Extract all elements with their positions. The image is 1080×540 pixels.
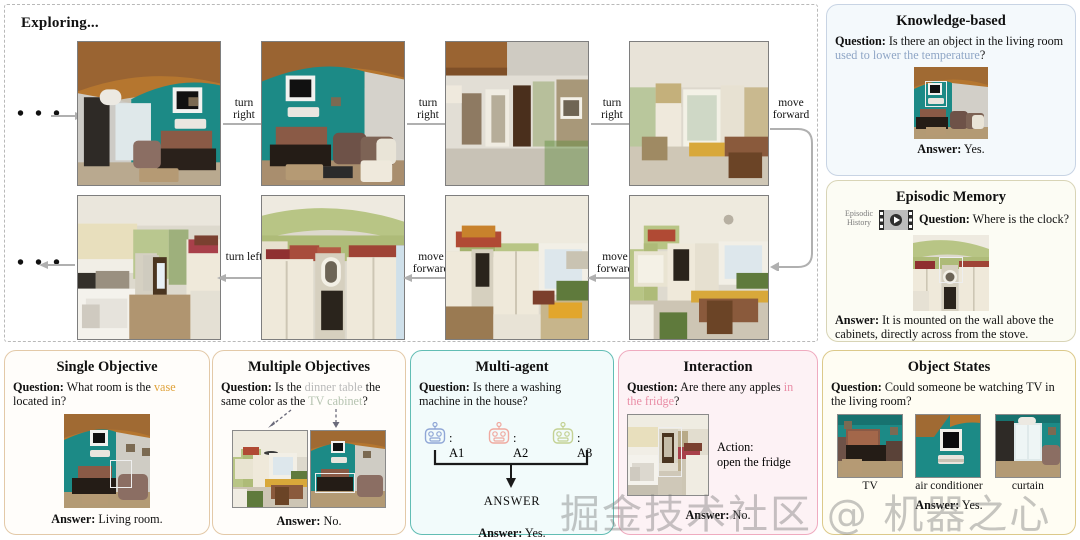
answer-label: Answer:	[51, 512, 95, 526]
question-highlight: vase	[154, 380, 176, 394]
arrow-top-2	[407, 123, 449, 125]
highlight-box	[110, 460, 132, 488]
explore-frame-bottom-4	[629, 195, 769, 340]
question-highlight-1: dinner table	[305, 380, 363, 394]
explore-frame-top-1	[77, 41, 221, 186]
question-label: Question:	[831, 380, 882, 394]
explore-frame-top-3	[445, 41, 589, 186]
question-label: Question:	[419, 380, 470, 394]
arrow-bottom-3	[595, 277, 629, 279]
episodic-history-label-line1: Episodic	[845, 209, 873, 218]
ellipsis-top-left: • • •	[17, 109, 63, 119]
objstate-item-ac: air conditioner	[915, 414, 982, 492]
answer-text: Yes.	[522, 526, 545, 540]
interaction-question: Question: Are there any apples in the fr…	[627, 380, 809, 408]
arrow-top-3	[591, 123, 633, 125]
page-title: Exploring...	[21, 15, 99, 32]
episodic-history-label: Episodic History	[839, 209, 879, 227]
explore-frame-bottom-2	[261, 195, 405, 340]
pointer-arrow-left	[265, 408, 295, 430]
knowledge-answer: Answer: Yes.	[835, 142, 1067, 156]
step-label-top-4: move forward	[767, 97, 815, 121]
action-line-1: Action:	[717, 440, 809, 455]
explore-frame-top-2	[261, 41, 405, 186]
multiagent-title: Multi-agent	[419, 359, 605, 376]
question-text-part1: Is the	[272, 380, 305, 394]
answer-label: Answer:	[478, 526, 522, 540]
question-highlight-2: TV cabinet	[308, 394, 362, 408]
multi-agent-card: Multi-agent Question: Is there a washing…	[410, 350, 614, 535]
question-text-part1: Is there an object in the living room	[886, 34, 1063, 48]
multiple-thumbnail-dinner-table	[232, 430, 308, 508]
answer-label: Answer:	[915, 498, 959, 512]
arrow-top-1	[223, 123, 265, 125]
step-label-top-2: turn right	[407, 97, 449, 121]
agent-a3: : A3	[551, 422, 575, 451]
answer-text: No.	[321, 514, 342, 528]
interaction-title: Interaction	[627, 359, 809, 376]
objstate-item-tv: TV	[837, 414, 903, 492]
multiple-answer: Answer: No.	[221, 514, 397, 528]
highlight-box	[925, 81, 947, 107]
objstate-item-curtain: curtain	[995, 414, 1061, 492]
question-text-part2: ?	[980, 48, 985, 62]
arrow-bottom-1	[225, 277, 263, 279]
answer-text: Yes.	[959, 498, 982, 512]
episodic-title: Episodic Memory	[835, 189, 1067, 206]
agent-a1: : A1	[423, 422, 447, 451]
highlight-box	[658, 427, 682, 477]
objstate-caption-tv: TV	[837, 480, 903, 492]
question-label: Question:	[627, 380, 678, 394]
exploring-panel: Exploring... • • • turn right	[4, 4, 818, 342]
question-label: Question:	[221, 380, 272, 394]
interaction-answer: Answer: No.	[627, 508, 809, 522]
step-label-top-1: turn right	[223, 97, 265, 121]
objstate-thumbnail-air-conditioner	[915, 414, 981, 478]
question-label: Question:	[835, 34, 886, 48]
interaction-card: Interaction Question: Are there any appl…	[618, 350, 818, 535]
single-thumbnail	[64, 414, 150, 508]
objstate-thumbnail-curtain	[995, 414, 1061, 478]
objstates-answer: Answer: Yes.	[831, 498, 1067, 512]
arrow-out-bottom	[47, 264, 75, 266]
episodic-question: Question: Where is the clock?	[919, 212, 1069, 226]
objstates-title: Object States	[831, 359, 1067, 376]
question-text-part1: What room is the	[64, 380, 154, 394]
interaction-thumbnail	[627, 414, 709, 496]
knowledge-title: Knowledge-based	[835, 13, 1067, 30]
objstate-thumbnail-tv	[837, 414, 903, 478]
question-text-part1: Are there any apples	[678, 380, 784, 394]
agent-a2: : A2	[487, 422, 511, 451]
answer-text: No.	[730, 508, 751, 522]
interaction-action: Action: open the fridge	[709, 440, 809, 470]
multiagent-question: Question: Is there a washing machine in …	[419, 380, 605, 408]
answer-text: Yes.	[961, 142, 984, 156]
knowledge-question: Question: Is there an object in the livi…	[835, 34, 1067, 62]
highlight-box	[939, 257, 963, 283]
arrow-into-frame-1	[51, 115, 76, 117]
episodic-memory-card: Episodic Memory Episodic History Questio…	[826, 180, 1076, 342]
single-title: Single Objective	[13, 359, 201, 376]
explore-frame-bottom-1	[77, 195, 221, 340]
merge-answer-label: ANSWER	[419, 494, 605, 509]
multiple-thumbnail-tv-cabinet	[310, 430, 386, 508]
objstate-caption-air-conditioner: air conditioner	[915, 480, 982, 492]
highlight-box	[315, 473, 355, 493]
answer-label: Answer:	[685, 508, 729, 522]
question-text-part2: ?	[674, 394, 679, 408]
multiagent-answer: Answer: Yes.	[419, 526, 605, 540]
answer-label: Answer:	[917, 142, 961, 156]
row-connector-arrow	[768, 123, 814, 271]
film-strip-icon	[879, 210, 913, 235]
episodic-thumbnail	[913, 235, 989, 311]
knowledge-thumbnail	[914, 67, 988, 139]
question-label: Question:	[13, 380, 64, 394]
action-line-2: open the fridge	[717, 455, 809, 470]
objstate-caption-curtain: curtain	[995, 480, 1061, 492]
question-text-part2: located in?	[13, 394, 66, 408]
explore-frame-bottom-3	[445, 195, 589, 340]
single-objective-card: Single Objective Question: What room is …	[4, 350, 210, 535]
multiple-question: Question: Is the dinner table the same c…	[221, 380, 397, 408]
question-text: Where is the clock?	[970, 212, 1069, 226]
episodic-answer: Answer: It is mounted on the wall above …	[835, 313, 1067, 341]
multiple-title: Multiple Objectives	[221, 359, 397, 376]
single-answer: Answer: Living room.	[13, 512, 201, 526]
single-question: Question: What room is the vase located …	[13, 380, 201, 408]
multiple-objectives-card: Multiple Objectives Question: Is the din…	[212, 350, 406, 535]
answer-label: Answer:	[276, 514, 320, 528]
step-label-bottom-1: turn left	[223, 251, 265, 263]
explore-frame-top-4	[629, 41, 769, 186]
answer-text: Living room.	[95, 512, 162, 526]
question-highlight: used to lower the temperature	[835, 48, 980, 62]
question-text-part3: ?	[362, 394, 367, 408]
knowledge-based-card: Knowledge-based Question: Is there an ob…	[826, 4, 1076, 176]
objstates-question: Question: Could someone be watching TV i…	[831, 380, 1067, 408]
episodic-history-label-line2: History	[847, 218, 871, 227]
arrow-bottom-2	[411, 277, 445, 279]
merge-bracket	[423, 448, 601, 490]
object-states-card: Object States Question: Could someone be…	[822, 350, 1076, 535]
step-label-top-3: turn right	[591, 97, 633, 121]
pointer-arrow-down	[329, 408, 343, 430]
question-label: Question:	[919, 212, 970, 226]
answer-label: Answer:	[835, 313, 879, 327]
